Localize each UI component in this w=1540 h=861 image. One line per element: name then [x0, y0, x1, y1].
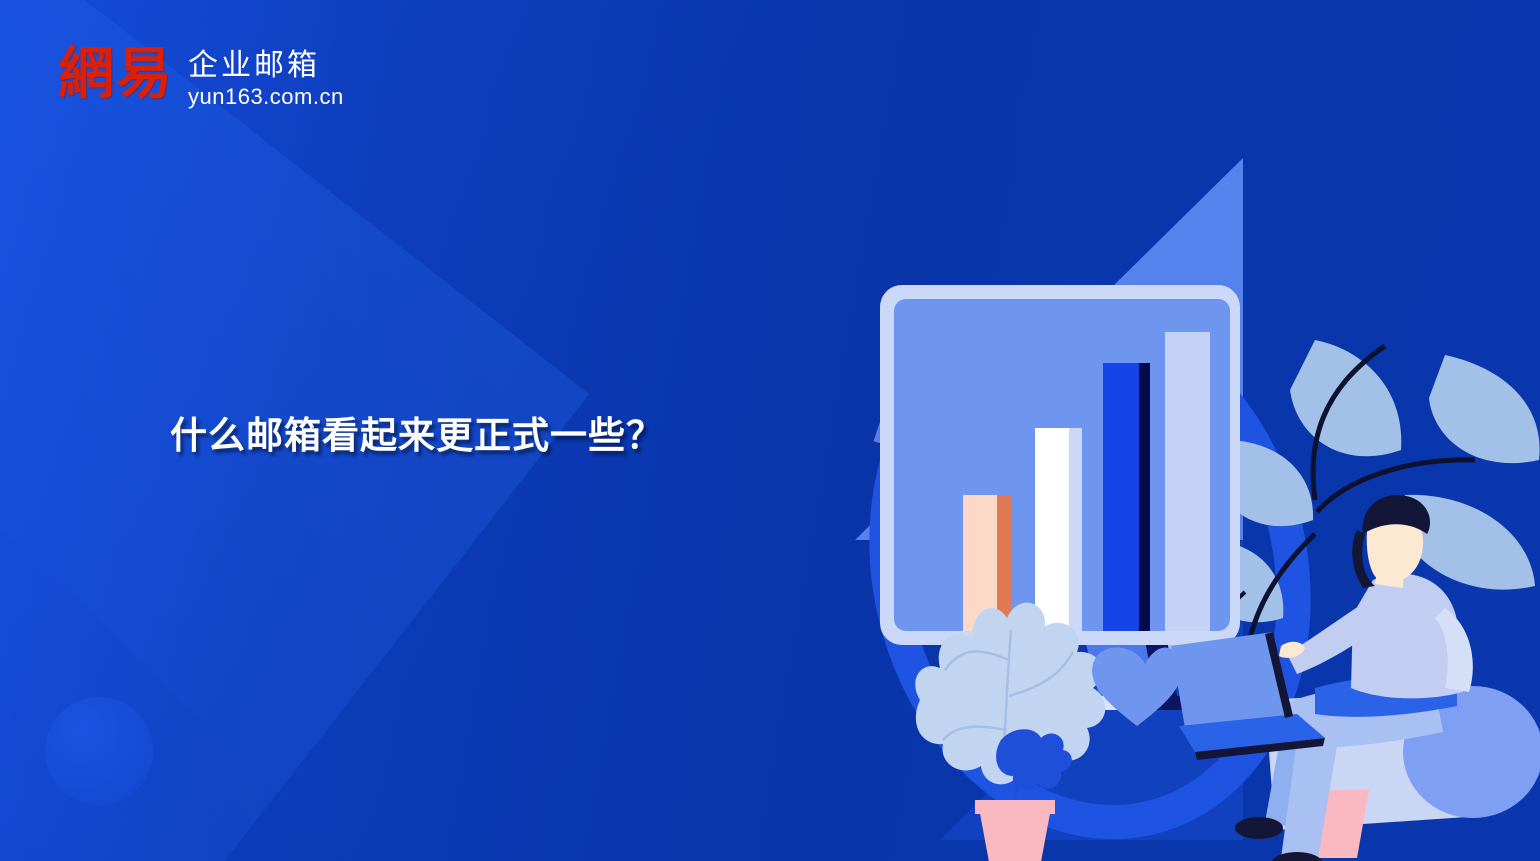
bar-blue-side: [1139, 363, 1150, 631]
decorative-circle: [45, 697, 153, 805]
leaf-right-upper: [1429, 355, 1540, 463]
logo-text-block: 企业邮箱 yun163.com.cn: [188, 46, 344, 110]
slide-canvas: 網易 企业邮箱 yun163.com.cn 什么邮箱看起来更正式一些？: [0, 0, 1540, 861]
page-title: 什么邮箱看起来更正式一些？: [170, 405, 664, 459]
bar-white-side: [1069, 428, 1082, 631]
plant-pot-rim: [975, 800, 1055, 814]
netease-logo-mark: 網易: [58, 46, 174, 102]
bar-lightblue: [1165, 332, 1210, 631]
logo-url: yun163.com.cn: [188, 84, 344, 109]
plant-pot: [979, 808, 1051, 861]
hero-illustration: [845, 140, 1540, 861]
shoe-far: [1235, 817, 1283, 839]
leaf-large-upper: [1290, 340, 1401, 456]
brand-logo: 網易 企业邮箱 yun163.com.cn: [58, 46, 344, 110]
logo-product-name: 企业邮箱: [188, 50, 344, 82]
